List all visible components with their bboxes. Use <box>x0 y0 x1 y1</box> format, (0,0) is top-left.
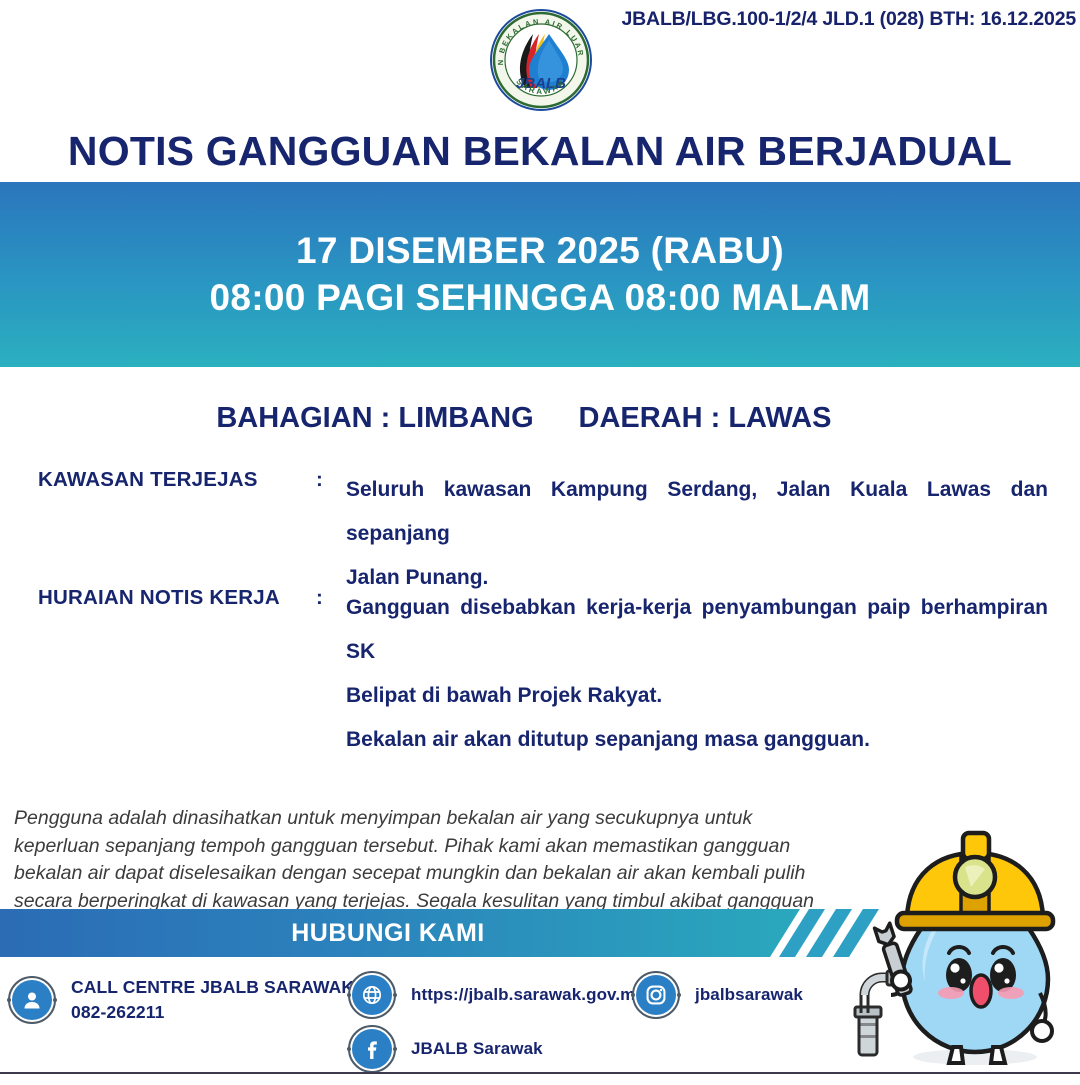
location-row: BAHAGIAN : LIMBANG DAERAH : LAWAS <box>0 402 1080 435</box>
work-description-body: Gangguan disebabkan kerja-kerja penyambu… <box>346 586 1048 762</box>
work-description-line-1: Gangguan disebabkan kerja-kerja penyambu… <box>346 586 1048 674</box>
contact-banner-title: HUBUNGI KAMI <box>0 909 800 957</box>
affected-area-label: KAWASAN TERJEJAS <box>38 468 258 492</box>
affected-area-body: Seluruh kawasan Kampung Serdang, Jalan K… <box>346 468 1048 600</box>
work-description-colon: : <box>316 586 323 610</box>
yellow-hard-hat <box>897 833 1053 929</box>
work-description-block: HURAIAN NOTIS KERJA : Gangguan disebabka… <box>38 586 1048 762</box>
date-time-banner: 17 DISEMBER 2025 (RABU) 08:00 PAGI SEHIN… <box>0 182 1080 367</box>
facebook-handle[interactable]: JBALB Sarawak <box>411 1037 543 1062</box>
website-url[interactable]: https://jbalb.sarawak.gov.my/ <box>411 983 650 1008</box>
instagram-icon <box>632 971 680 1019</box>
jbalb-sarawak-logo-icon: JBALB JABATAN BEKALAN AIR LUAR BANDAR SA… <box>489 8 593 112</box>
instagram-handle[interactable]: jbalbsarawak <box>695 983 803 1008</box>
contact-facebook[interactable]: JBALB Sarawak <box>348 1025 543 1073</box>
contact-instagram[interactable]: jbalbsarawak <box>632 971 803 1019</box>
outage-date: 17 DISEMBER 2025 (RABU) <box>296 228 784 274</box>
globe-icon <box>348 971 396 1019</box>
affected-area-colon: : <box>316 468 323 492</box>
district-label: DAERAH : LAWAS <box>540 402 870 435</box>
call-centre-name: CALL CENTRE JBALB SARAWAK <box>71 975 354 1000</box>
person-icon <box>8 976 56 1024</box>
reference-number: JBALB/LBG.100-1/2/4 JLD.1 (028) BTH: 16.… <box>622 8 1076 31</box>
outage-time: 08:00 PAGI SEHINGGA 08:00 MALAM <box>209 275 870 321</box>
call-centre-phone: 082-262211 <box>71 1000 354 1025</box>
work-description-line-2: Belipat di bawah Projek Rakyat. <box>346 674 1048 718</box>
division-label: BAHAGIAN : LIMBANG <box>210 402 540 435</box>
affected-area-block: KAWASAN TERJEJAS : Seluruh kawasan Kampu… <box>38 468 1048 600</box>
contact-call-centre[interactable]: CALL CENTRE JBALB SARAWAK 082-262211 <box>8 975 354 1026</box>
work-description-line-3: Bekalan air akan ditutup sepanjang masa … <box>346 718 1048 762</box>
affected-area-line-1: Seluruh kawasan Kampung Serdang, Jalan K… <box>346 468 1048 556</box>
facebook-icon <box>348 1025 396 1073</box>
bottom-divider <box>0 1072 1080 1074</box>
page-title: NOTIS GANGGUAN BEKALAN AIR BERJADUAL <box>0 128 1080 175</box>
work-description-label: HURAIAN NOTIS KERJA <box>38 586 280 610</box>
water-droplet-worker-mascot-icon <box>835 795 1080 1080</box>
notice-header: JBALB/LBG.100-1/2/4 JLD.1 (028) BTH: 16.… <box>0 0 1080 182</box>
contact-website[interactable]: https://jbalb.sarawak.gov.my/ <box>348 971 650 1019</box>
